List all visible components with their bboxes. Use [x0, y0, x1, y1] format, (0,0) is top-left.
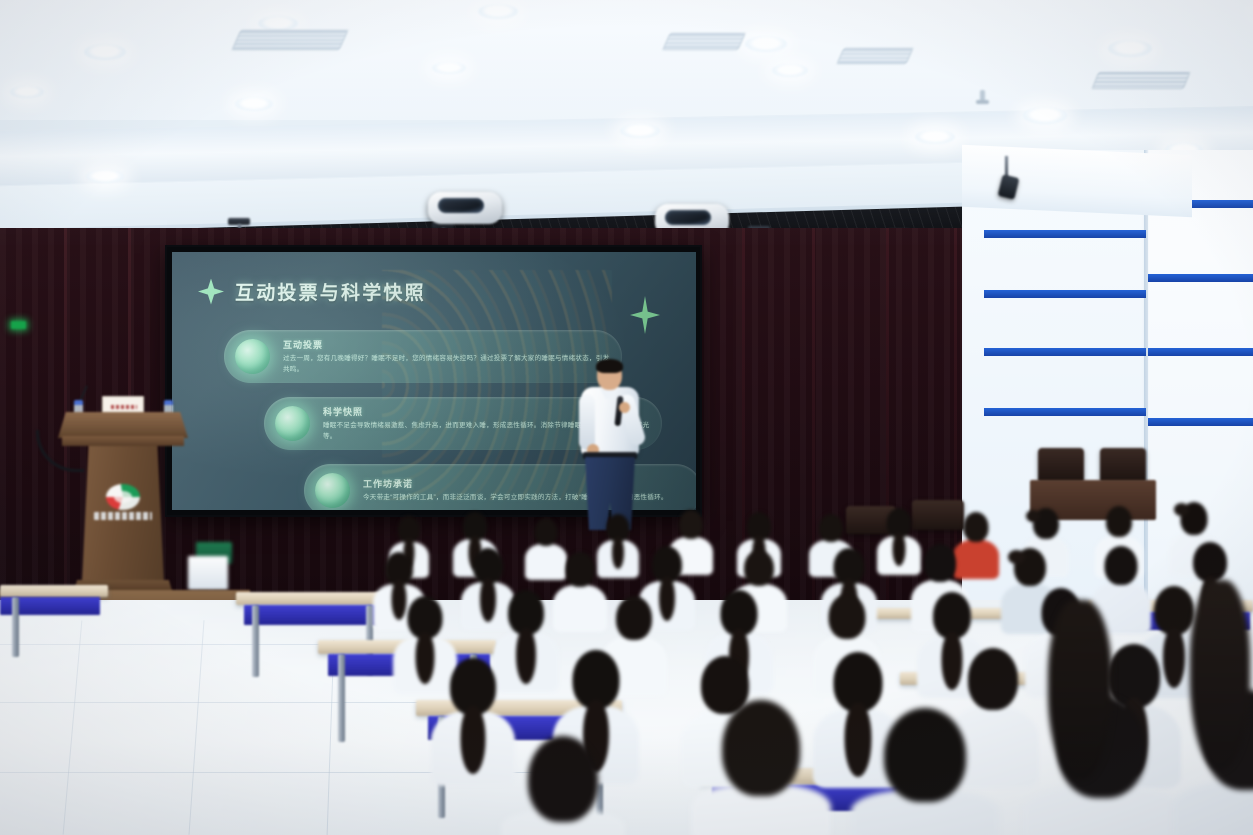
floor-tile-line: [0, 702, 480, 703]
desk-apron: [244, 605, 380, 625]
audience-head: [616, 596, 652, 640]
presenter-hair: [596, 359, 623, 373]
audience-hair: [461, 706, 486, 774]
sparkle-star-icon: [630, 296, 660, 334]
audience-head: [528, 736, 598, 822]
downlight-icon: [745, 36, 787, 52]
floor-tile-line: [63, 620, 83, 834]
wall-stripe: [984, 348, 1146, 356]
projector-icon: [428, 192, 502, 224]
back-chair: [1100, 448, 1146, 482]
downlight-icon: [1108, 40, 1152, 57]
podium: [58, 412, 188, 602]
ceiling-vent-icon: [662, 33, 746, 50]
downlight-icon: [86, 170, 124, 183]
downlight-icon: [620, 124, 660, 138]
institution-emblem-icon: [106, 484, 140, 510]
wall-stripe: [1148, 348, 1253, 356]
desk: [236, 592, 386, 605]
audience-member: [690, 700, 832, 835]
audience-head: [1106, 506, 1132, 537]
presenter-right-hand: [619, 402, 630, 413]
slide-card-heading: 互动投票: [283, 338, 610, 351]
audience-head: [884, 708, 966, 802]
audience-head: [819, 514, 843, 542]
audience-hair-bun: [1174, 503, 1189, 516]
audience-hair: [893, 533, 906, 566]
presenter: [575, 360, 649, 530]
wall-stripe: [1148, 274, 1253, 282]
audience-head: [744, 550, 774, 586]
audience-head: [964, 512, 989, 542]
projector-lens: [665, 210, 711, 225]
audience-body: [553, 585, 607, 632]
audience-hair-bun: [1026, 510, 1040, 522]
audience-head: [968, 648, 1018, 710]
ceiling-vent-icon: [232, 30, 349, 50]
podium-top: [58, 412, 188, 438]
glow-orb-icon: [235, 339, 270, 374]
audience-head: [679, 510, 703, 539]
downlight-icon: [84, 44, 126, 60]
slide-title: 互动投票与科学快照: [235, 278, 426, 305]
glow-orb-icon: [315, 473, 350, 508]
audience-member: [500, 736, 626, 835]
ceiling-vent-icon: [1092, 72, 1191, 89]
slide-title-row: 互动投票与科学快照: [198, 278, 426, 305]
downlight-icon: [478, 4, 518, 19]
floor-tile-line: [189, 620, 205, 835]
downlight-icon: [235, 97, 273, 111]
exit-sign-icon: [11, 321, 26, 329]
desk-leg: [12, 597, 19, 657]
right-wall-soffit: [962, 145, 1192, 217]
podium-lip: [62, 436, 184, 446]
audience-head: [1105, 546, 1138, 585]
audience-head: [566, 552, 595, 587]
downlight-icon: [258, 16, 298, 31]
desk: [0, 585, 108, 597]
glow-orb-icon: [275, 406, 310, 441]
back-chair: [1038, 448, 1084, 482]
wall-stripe: [984, 230, 1146, 238]
desk-leg: [338, 654, 345, 742]
slide-card-body: 过去一周，您有几晚睡得好？睡眠不足时，您的情绪容易失控吗？通过投票了解大家的睡眠…: [283, 354, 610, 374]
downlight-icon: [772, 64, 808, 77]
audience-head: [722, 700, 800, 796]
sprinkler-head-icon: [980, 90, 985, 102]
ceiling-vent-icon: [836, 48, 913, 64]
wall-stripe: [1148, 418, 1253, 426]
audience-hair: [612, 537, 624, 569]
ceiling-upper-plane: [0, 0, 1253, 120]
audience-hair: [516, 628, 536, 684]
slide-card-text: 互动投票 过去一周，您有几晚睡得好？睡眠不足时，您的情绪容易失控吗？通过投票了解…: [283, 338, 622, 374]
stage-white-box: [188, 556, 228, 590]
audience-head: [829, 594, 866, 639]
projector-lens: [438, 198, 484, 213]
audience-hair: [1048, 600, 1112, 780]
lecture-hall-photo: 互动投票与科学快照 互动投票 过去一周，您有几晚睡得好？睡眠不足时，您的情绪容易…: [0, 0, 1253, 835]
presenter-left-arm: [579, 394, 595, 450]
four-point-star-icon: [198, 279, 224, 305]
audience-head: [924, 544, 956, 582]
desk-leg: [252, 605, 259, 677]
downlight-icon: [1023, 107, 1067, 124]
audience-hair: [1190, 580, 1250, 770]
downlight-icon: [10, 86, 44, 98]
wall-stripe: [984, 408, 1146, 416]
audience-head: [535, 518, 558, 546]
institution-name-text: [94, 512, 152, 520]
audience-hair-bun: [1008, 550, 1025, 564]
downlight-icon: [432, 62, 466, 74]
audience-member: [850, 708, 1000, 835]
slide-card: 互动投票 过去一周，您有几晚睡得好？睡眠不足时，您的情绪容易失控吗？通过投票了解…: [224, 330, 622, 383]
wall-stripe: [984, 290, 1146, 298]
downlight-icon: [915, 130, 955, 144]
